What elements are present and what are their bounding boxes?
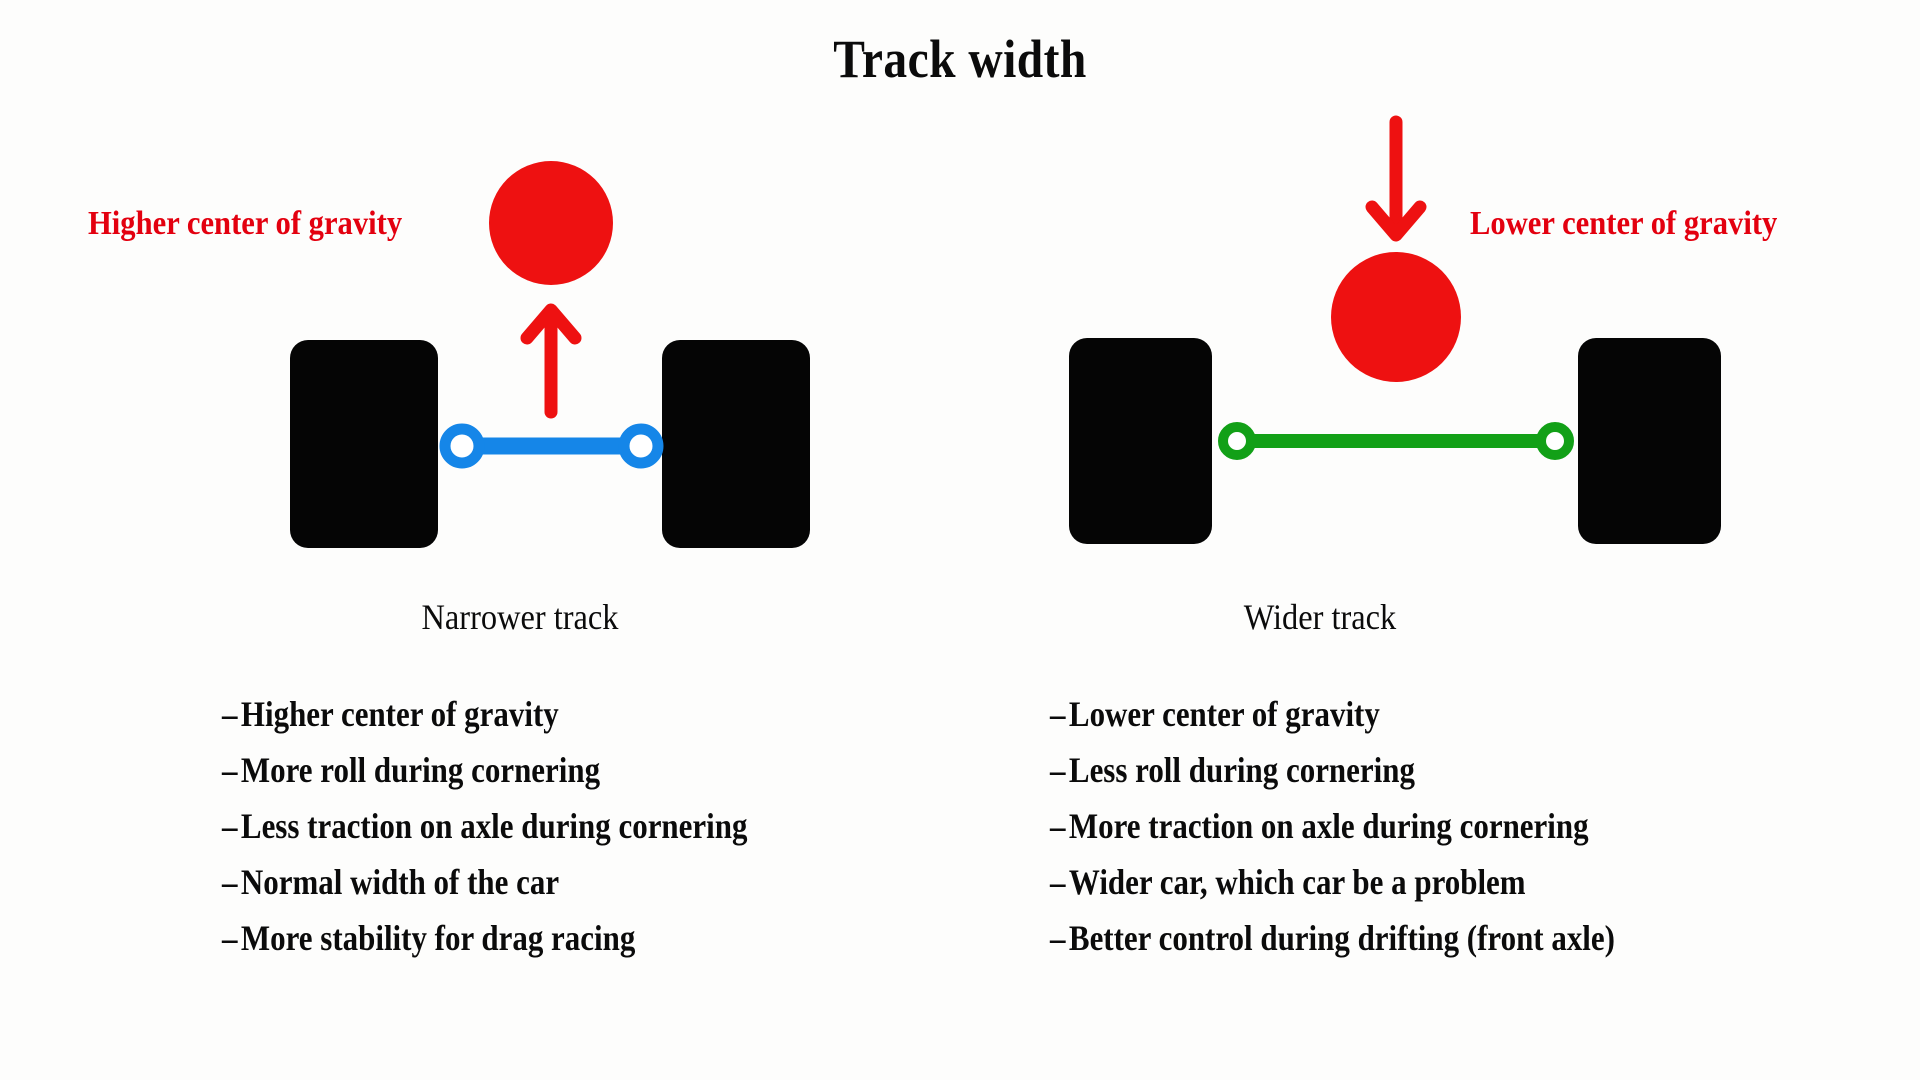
hub-left-wide: [1223, 427, 1251, 455]
center-of-gravity-mass-high: [489, 161, 613, 285]
list-item: – More traction on axle during cornering: [1050, 798, 1615, 854]
list-item: – Better control during drifting (front …: [1050, 910, 1615, 966]
list-item-label: Better control during drifting (front ax…: [1069, 910, 1615, 966]
bullet-marker-icon: –: [222, 910, 241, 966]
track-width-diagram: Track width Higher center of gravity Low…: [0, 0, 1920, 1080]
arrow-up-icon: [527, 310, 575, 412]
list-item-label: More traction on axle during cornering: [1069, 798, 1589, 854]
hub-right-narrow: [624, 429, 658, 463]
tire-right-outer-right: [1578, 338, 1721, 544]
lower-center-of-gravity-label: Lower center of gravity: [1470, 205, 1777, 243]
list-item-label: More roll during cornering: [241, 742, 600, 798]
list-item-label: Lower center of gravity: [1069, 686, 1380, 742]
list-item-label: Normal width of the car: [241, 854, 559, 910]
list-item-label: More stability for drag racing: [241, 910, 635, 966]
list-item: – Lower center of gravity: [1050, 686, 1615, 742]
tire-left-inner: [662, 340, 810, 548]
page-title: Track width: [115, 28, 1805, 90]
narrow-track-bullet-list: – Higher center of gravity – More roll d…: [222, 686, 747, 966]
list-item: – Less traction on axle during cornering: [222, 798, 747, 854]
list-item-label: Less roll during cornering: [1069, 742, 1415, 798]
list-item: – Higher center of gravity: [222, 686, 747, 742]
bullet-marker-icon: –: [1050, 854, 1069, 910]
arrow-down-icon: [1372, 122, 1420, 235]
list-item: – More stability for drag racing: [222, 910, 747, 966]
list-item: – More roll during cornering: [222, 742, 747, 798]
list-item: – Normal width of the car: [222, 854, 747, 910]
wide-track-assembly: [1069, 122, 1721, 544]
center-of-gravity-mass-low: [1331, 252, 1461, 382]
caption-wider-track: Wider track: [1176, 596, 1464, 638]
tire-left-outer: [290, 340, 438, 548]
hub-right-wide: [1541, 427, 1569, 455]
list-item-label: Less traction on axle during cornering: [241, 798, 748, 854]
bullet-marker-icon: –: [222, 798, 241, 854]
bullet-marker-icon: –: [222, 742, 241, 798]
list-item: – Wider car, which car be a problem: [1050, 854, 1615, 910]
bullet-marker-icon: –: [1050, 798, 1069, 854]
wide-track-bullet-list: – Lower center of gravity – Less roll du…: [1050, 686, 1615, 966]
list-item: – Less roll during cornering: [1050, 742, 1615, 798]
bullet-marker-icon: –: [1050, 686, 1069, 742]
list-item-label: Wider car, which car be a problem: [1069, 854, 1526, 910]
bullet-marker-icon: –: [1050, 742, 1069, 798]
bullet-marker-icon: –: [222, 854, 241, 910]
bullet-marker-icon: –: [1050, 910, 1069, 966]
caption-narrower-track: Narrower track: [376, 596, 664, 638]
tire-right-outer-left: [1069, 338, 1212, 544]
bullet-marker-icon: –: [222, 686, 241, 742]
hub-left-narrow: [445, 429, 479, 463]
higher-center-of-gravity-label: Higher center of gravity: [88, 205, 402, 243]
list-item-label: Higher center of gravity: [241, 686, 559, 742]
